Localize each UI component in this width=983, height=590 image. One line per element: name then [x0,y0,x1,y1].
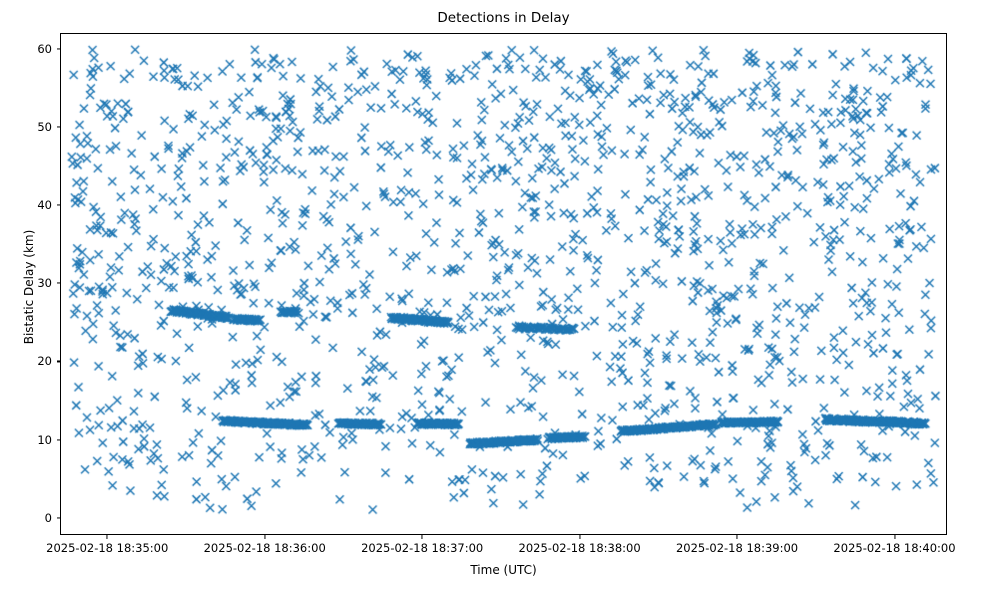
x-axis-tick-mark [264,535,265,539]
matplotlib-figure: Detections in Delay Bistatic Delay (km) … [0,0,983,590]
x-axis-tick-label: 2025-02-18 18:39:00 [676,541,798,555]
x-axis-tick-mark [737,535,738,539]
y-axis-tick-label: 40 [6,198,52,212]
x-axis-tick-label: 2025-02-18 18:36:00 [204,541,326,555]
x-axis-tick-mark [107,535,108,539]
x-axis-tick-label: 2025-02-18 18:37:00 [361,541,483,555]
y-axis-tick-labels: 0102030405060 [0,33,52,535]
x-axis-tick-mark [579,535,580,539]
y-axis-tick-label: 60 [6,42,52,56]
x-axis-tick-label: 2025-02-18 18:40:00 [833,541,955,555]
y-axis-tick-label: 30 [6,276,52,290]
y-axis-tick-label: 20 [6,354,52,368]
x-axis-tick-mark [422,535,423,539]
y-axis-tick-label: 10 [6,433,52,447]
x-axis-tick-labels: 2025-02-18 18:35:002025-02-18 18:36:0020… [60,541,947,559]
x-axis-label: Time (UTC) [60,563,947,577]
page-title: Detections in Delay [60,8,947,28]
x-axis-tick-label: 2025-02-18 18:35:00 [46,541,168,555]
x-axis-tick-mark [894,535,895,539]
y-axis-tick-label: 50 [6,120,52,134]
scatter-series-detections [61,34,946,534]
x-axis-tick-label: 2025-02-18 18:38:00 [519,541,641,555]
plot-area [60,33,947,535]
x-axis-tick-marks [60,535,947,540]
y-axis-tick-label: 0 [6,511,52,525]
